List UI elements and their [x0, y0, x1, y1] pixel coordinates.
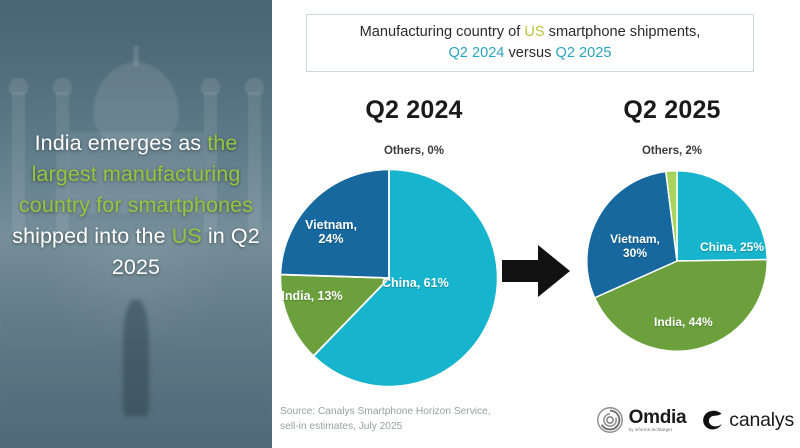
slice-label-vietnam-2024-line1: Vietnam, [305, 218, 357, 232]
canalys-name: canalys [729, 409, 794, 432]
title-q2-2024: Q2 2024 [448, 45, 504, 61]
slice-label-vietnam-2025-line2: 30% [623, 246, 647, 260]
others-label-2024: Others, 0% [314, 145, 514, 157]
source-line-2: sell-in estimates, July 2025 [280, 419, 550, 434]
slice-label-vietnam-2024: Vietnam, 24% [294, 218, 368, 246]
omdia-wordmark: Omdia by informa techtarget [629, 408, 687, 433]
canalys-swoosh-icon [700, 408, 724, 432]
title-us-highlight: US [524, 24, 544, 40]
omdia-name: Omdia [629, 408, 687, 427]
canalys-logo: canalys [700, 408, 794, 432]
transition-arrow-icon [502, 243, 570, 299]
arrow-right-icon [502, 243, 570, 299]
slice-label-india-2024: India, 13% [271, 289, 353, 303]
slice-label-china-2024: China, 61% [382, 276, 449, 290]
slice-label-vietnam-2025: Vietnam, 30% [598, 232, 672, 260]
chart-title-box: Manufacturing country of US smartphone s… [306, 14, 754, 72]
source-line-1: Source: Canalys Smartphone Horizon Servi… [280, 404, 550, 419]
hero-segment-3: US [172, 224, 202, 248]
omdia-logo: Omdia by informa techtarget [596, 406, 687, 434]
hero-segment-0: India emerges as [35, 131, 208, 155]
slice-label-vietnam-2024-line2: 24% [318, 232, 343, 246]
pie-title-2024: Q2 2024 [314, 96, 514, 125]
omdia-circle-icon [596, 406, 624, 434]
others-label-2025: Others, 2% [572, 145, 772, 157]
hero-image-panel: India emerges as the largest manufacturi… [0, 0, 272, 448]
title-q2-2025: Q2 2025 [556, 45, 612, 61]
hero-segment-2: shipped into the [12, 224, 172, 248]
title-part-1: Manufacturing country of [360, 24, 525, 40]
chart-panel: Manufacturing country of US smartphone s… [272, 0, 800, 448]
hero-headline: India emerges as the largest manufacturi… [0, 128, 272, 283]
pie-title-2025: Q2 2025 [572, 96, 772, 125]
omdia-subtitle: by informa techtarget [629, 428, 687, 432]
slice-label-vietnam-2025-line1: Vietnam, [610, 232, 660, 246]
title-part-2: smartphone shipments, [545, 24, 701, 40]
person-silhouette [123, 300, 149, 416]
slice-label-china-2025: China, 25% [700, 240, 764, 254]
logo-row: Omdia by informa techtarget canalys [596, 406, 794, 434]
slice-label-india-2025: India, 44% [654, 315, 713, 329]
source-note: Source: Canalys Smartphone Horizon Servi… [280, 404, 550, 434]
chart-title-text: Manufacturing country of US smartphone s… [360, 22, 701, 64]
title-versus: versus [504, 45, 555, 61]
